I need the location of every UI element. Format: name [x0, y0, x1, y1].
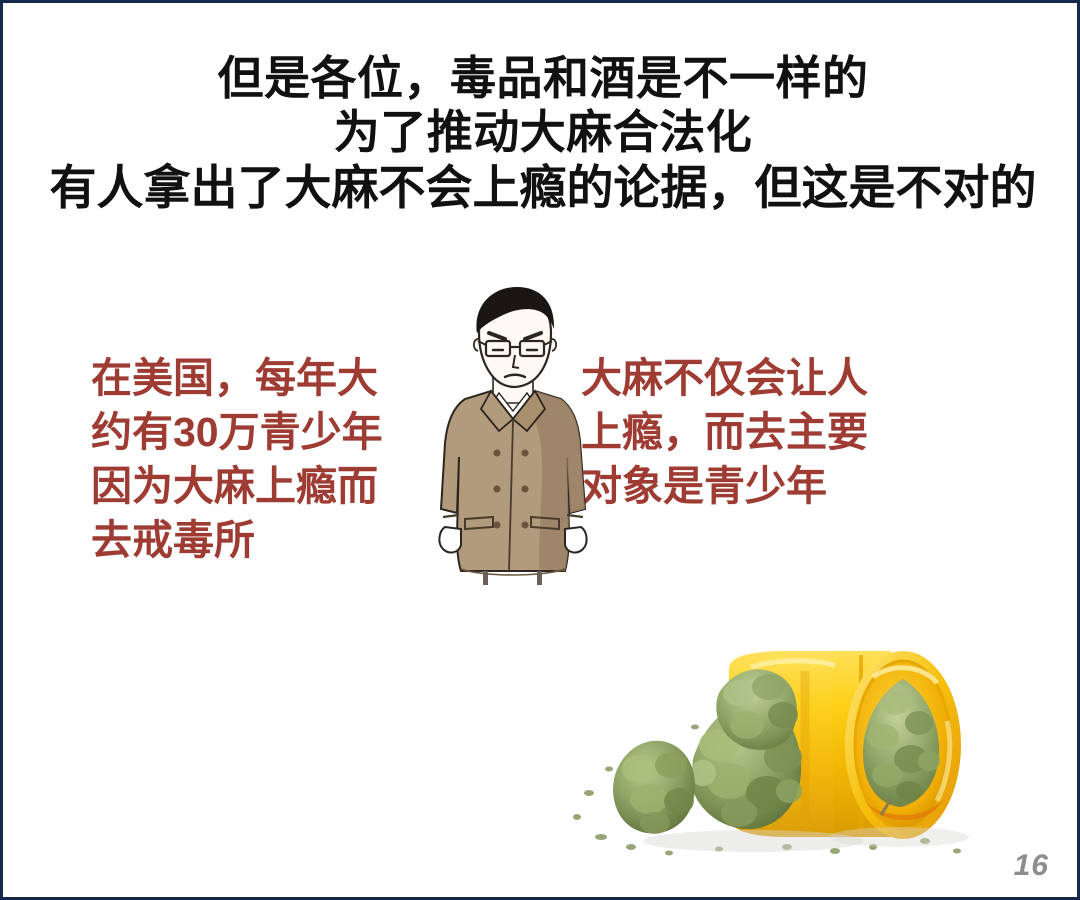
title-line-1: 但是各位，毒品和酒是不一样的	[3, 51, 1080, 105]
title-line-2: 为了推动大麻合法化	[3, 105, 1080, 159]
cannabis-and-pill-bottle-photo	[543, 641, 1013, 891]
page-number: 16	[1014, 849, 1049, 883]
page-title: 但是各位，毒品和酒是不一样的 为了推动大麻合法化 有人拿出了大麻不会上瘾的论据，…	[3, 51, 1080, 215]
slide-canvas: 但是各位，毒品和酒是不一样的 为了推动大麻合法化 有人拿出了大麻不会上瘾的论据，…	[0, 0, 1080, 900]
cartoon-man-icon	[423, 281, 603, 591]
title-line-3: 有人拿出了大麻不会上瘾的论据，但这是不对的	[3, 160, 1080, 215]
right-statement-text: 大麻不仅会让人 上瘾，而去主要 对象是青少年	[581, 351, 911, 513]
left-statistic-text: 在美国，每年大 约有30万青少年 因为大麻上瘾而 去戒毒所	[91, 351, 421, 567]
cannabis-bottle-image	[543, 641, 1013, 891]
cartoon-man-illustration	[423, 281, 603, 591]
